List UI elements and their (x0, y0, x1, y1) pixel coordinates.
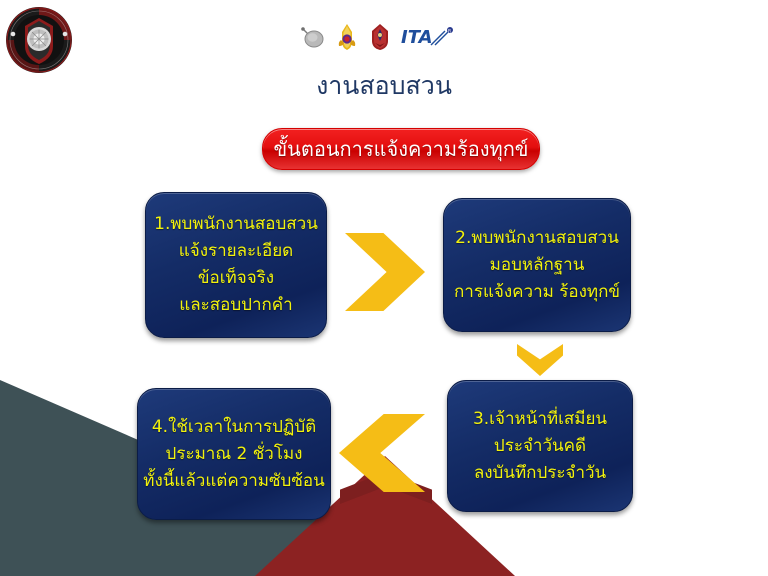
step-3-line-1: 3.เจ้าหน้าที่เสมียน (473, 406, 607, 433)
slide-canvas: ITA R งานสอบสวน ขั้นตอนการแจ้งความร้องทุ… (0, 0, 768, 576)
arrow-down-icon (517, 344, 563, 376)
process-banner: ขั้นตอนการแจ้งความร้องทุกข์ (262, 128, 540, 170)
process-banner-label: ขั้นตอนการแจ้งความร้องทุกข์ (274, 137, 529, 161)
red-shield-emblem-icon (368, 23, 392, 55)
step-2-line-3: การแจ้งความ ร้องทุกข์ (454, 279, 620, 306)
svg-text:R: R (448, 29, 451, 35)
step-3-line-3: ลงบันทึกประจำวัน (474, 460, 606, 487)
step-box-2: 2.พบพนักงานสอบสวน มอบหลักฐาน การแจ้งความ… (443, 198, 631, 332)
arrow-left-icon (339, 414, 425, 492)
org-logo-row: ITA R (298, 22, 458, 56)
step-1-line-4: และสอบปากคำ (179, 292, 292, 319)
step-box-4: 4.ใช้เวลาในการปฏิบัติ ประมาณ 2 ชั่วโมง ท… (137, 388, 331, 520)
ita-logo: ITA R (401, 25, 455, 53)
step-4-line-3: ทั้งนี้แล้วแต่ความซับซ้อน (143, 468, 324, 495)
step-box-3: 3.เจ้าหน้าที่เสมียน ประจำวันคดี ลงบันทึก… (447, 380, 633, 512)
magnifier-emblem-icon (298, 24, 326, 54)
step-2-line-2: มอบหลักฐาน (490, 252, 585, 279)
page-title: งานสอบสวน (0, 70, 768, 102)
police-badge-logo (5, 6, 73, 74)
gold-royal-emblem-icon (335, 23, 359, 55)
step-3-line-2: ประจำวันคดี (494, 433, 586, 460)
step-1-line-3: ข้อเท็จจริง (198, 265, 274, 292)
svg-text:ITA: ITA (401, 27, 433, 48)
step-4-line-1: 4.ใช้เวลาในการปฏิบัติ (152, 414, 316, 441)
step-4-line-2: ประมาณ 2 ชั่วโมง (166, 441, 303, 468)
step-1-line-2: แจ้งรายละเอียด (179, 238, 293, 265)
step-1-line-1: 1.พบพนักงานสอบสวน (154, 211, 318, 238)
step-box-1: 1.พบพนักงานสอบสวน แจ้งรายละเอียด ข้อเท็จ… (145, 192, 327, 338)
arrow-right-icon (345, 233, 425, 311)
step-2-line-1: 2.พบพนักงานสอบสวน (455, 225, 619, 252)
